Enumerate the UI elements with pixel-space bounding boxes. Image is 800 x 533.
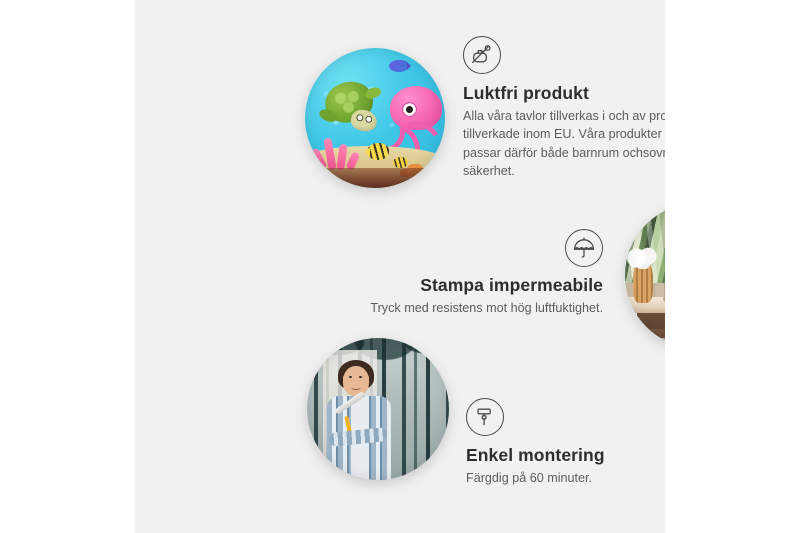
- white-flowers: [627, 247, 659, 269]
- feature-body: Tryck med resistens mot hög luftfuktighe…: [333, 299, 603, 317]
- bathroom-artwork: [625, 203, 665, 348]
- feature-luktfri-produkt: Luktfri produkt Alla våra tavlor tillver…: [463, 36, 665, 180]
- octopus-eye: [402, 102, 417, 117]
- feature-enkel-montering: Enkel montering Färgdig på 60 minuter.: [466, 398, 665, 487]
- feature-title: Stampa impermeabile: [333, 275, 603, 295]
- paint-roller-icon: [466, 398, 504, 436]
- no-odor-spray-icon: [463, 36, 501, 74]
- forest-installer-artwork: [307, 338, 449, 480]
- woman-eye: [359, 376, 362, 378]
- sea-foreground-rocks: [305, 168, 445, 188]
- underwater-artwork: [305, 48, 445, 188]
- vanity-drawer: [647, 329, 665, 348]
- feature-title: Luktfri produkt: [463, 83, 665, 103]
- feature-body: Alla våra tavlor tillverkas i och av pro…: [463, 107, 665, 180]
- product-image-bathroom-tropical-wallpaper[interactable]: [625, 203, 665, 348]
- feature-stampa-impermeabile: Stampa impermeabile Tryck med resistens …: [333, 229, 603, 317]
- yellow-fish-small-icon: [393, 157, 408, 168]
- product-image-woman-paint-roller-forest[interactable]: [307, 338, 449, 480]
- content-panel: Luktfri produkt Alla våra tavlor tillver…: [135, 0, 665, 533]
- page-stage: Luktfri produkt Alla våra tavlor tillver…: [0, 0, 800, 533]
- feature-title: Enkel montering: [466, 445, 665, 465]
- product-image-underwater-kids-mural[interactable]: [305, 48, 445, 188]
- feature-body: Färgdig på 60 minuter.: [466, 469, 665, 487]
- yellow-fish-icon: [367, 143, 389, 160]
- blue-fish-icon: [389, 60, 409, 72]
- woman-eye: [349, 376, 352, 378]
- woman-smile: [351, 385, 361, 390]
- umbrella-icon: [565, 229, 603, 267]
- woman-face: [343, 366, 369, 396]
